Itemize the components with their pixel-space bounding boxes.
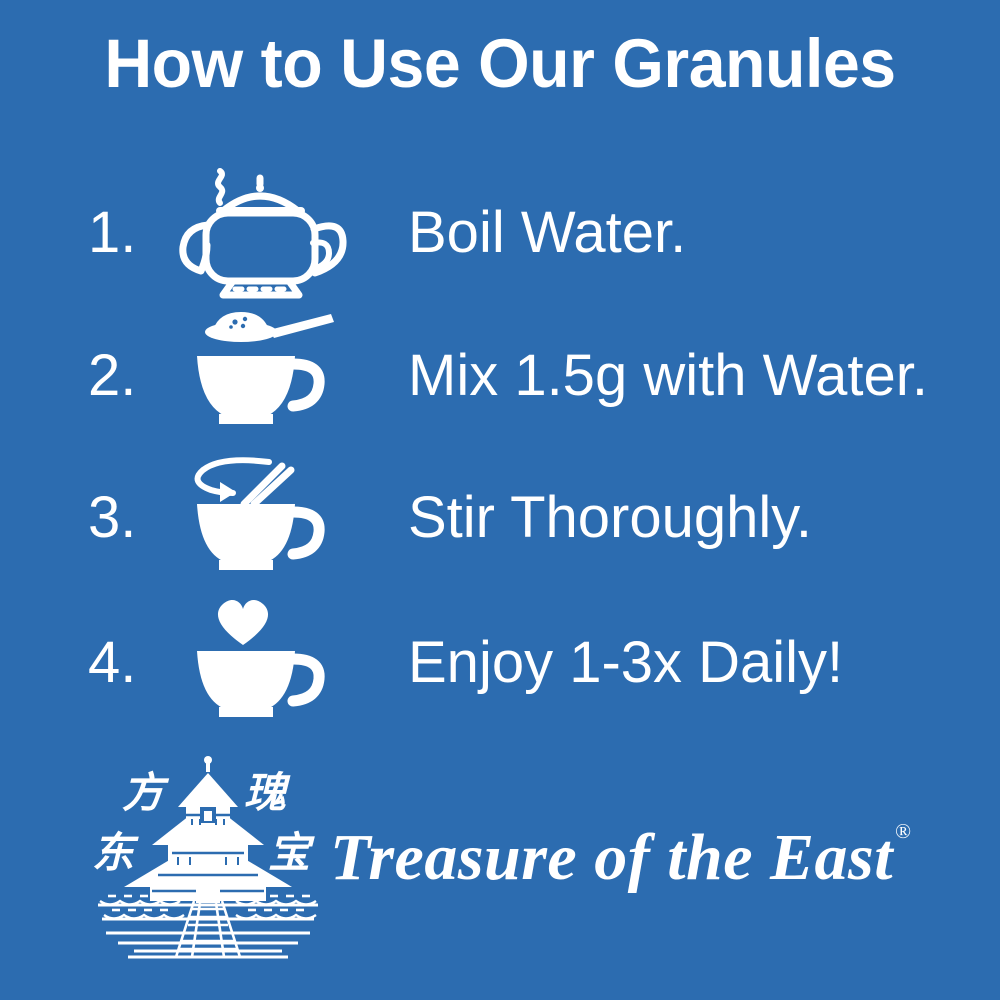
teapot-icon bbox=[173, 163, 348, 303]
brand-name: Treasure of the East bbox=[330, 821, 893, 894]
list-item-step-3: 3. S bbox=[0, 445, 1000, 590]
poster-canvas: How to Use Our Granules 1. bbox=[0, 0, 1000, 1000]
step-label: Enjoy 1-3x Daily! bbox=[408, 634, 843, 692]
step-number: 1. bbox=[88, 204, 173, 262]
logo-char-bottom-left: 东 bbox=[92, 828, 139, 877]
cup-with-stir-arrow-icon bbox=[173, 448, 348, 588]
step-label: Boil Water. bbox=[408, 204, 686, 262]
list-item-step-4: 4. Enjoy 1-3x Daily! bbox=[0, 590, 1000, 735]
cup-with-spoon-of-granules-icon bbox=[173, 306, 348, 446]
step-label: Mix 1.5g with Water. bbox=[408, 347, 928, 405]
step-number: 2. bbox=[88, 347, 173, 405]
list-item-step-2: 2. bbox=[0, 303, 1000, 448]
step-number: 3. bbox=[88, 489, 173, 547]
cup-with-heart-icon bbox=[173, 593, 348, 733]
page-title: How to Use Our Granules bbox=[20, 24, 980, 103]
list-item-step-1: 1. bbox=[0, 160, 1000, 305]
registered-trademark-mark: ® bbox=[895, 819, 911, 843]
step-number: 4. bbox=[88, 634, 173, 692]
step-label: Stir Thoroughly. bbox=[408, 489, 812, 547]
steps-list: 1. bbox=[0, 150, 1000, 730]
brand-wordmark: Treasure of the East® bbox=[330, 820, 910, 896]
logo-char-top-left: 方 bbox=[122, 768, 170, 817]
logo-char-bottom-right: 宝 bbox=[268, 828, 315, 877]
brand-footer: 方 瑰 东 宝 bbox=[0, 745, 1000, 980]
temple-of-heaven-logo: 方 瑰 东 宝 bbox=[88, 745, 328, 960]
logo-char-top-right: 瑰 bbox=[244, 768, 291, 817]
